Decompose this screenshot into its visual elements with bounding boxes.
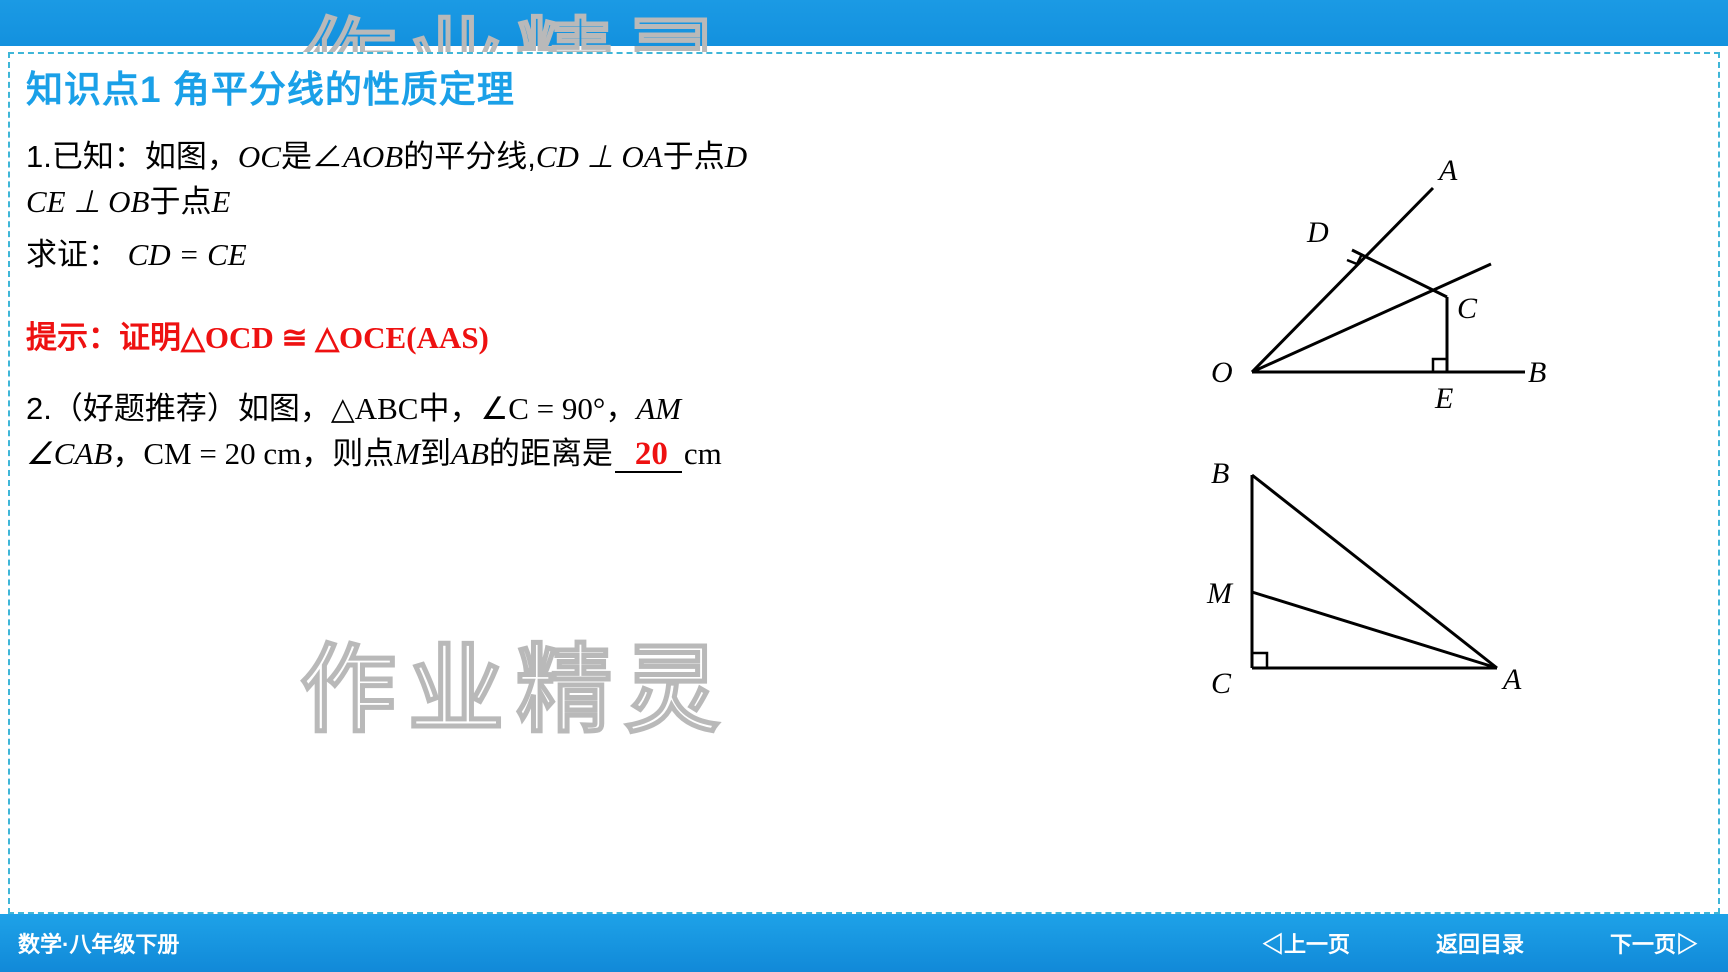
footer-navigation: ◁上一页 返回目录 下一页▷	[1262, 927, 1698, 959]
question-text-column: 知识点1 角平分线的性质定理 1.已知：如图，OC是∠AOB的平分线,CD ⊥ …	[26, 70, 1176, 473]
figure1-svg: A D C O E B	[1195, 150, 1555, 420]
fig1-label-B: B	[1528, 356, 1546, 389]
q1-line1-d: 于点	[663, 139, 725, 174]
q2-angle-cab: ∠CAB	[26, 436, 112, 471]
fig1-label-D: D	[1306, 216, 1329, 249]
question1-prove-line: 求证： CD = CE	[26, 239, 1176, 270]
q1-prove-expr: CD = CE	[128, 237, 247, 272]
fig1-label-O: O	[1211, 356, 1233, 389]
q1-line1-a: 如图，	[145, 139, 238, 174]
fig1-label-C: C	[1457, 292, 1478, 325]
q1-point-d: D	[725, 139, 747, 174]
fig2-label-C: C	[1211, 667, 1232, 700]
q1-line2-a: 于点	[149, 184, 211, 219]
q2-unit: cm	[684, 436, 722, 471]
question2-line1: 2.（好题推荐）如图，△ABC中，∠C = 90°，AM	[26, 393, 1176, 424]
q2-comma3: ，	[301, 436, 332, 471]
fig2-right-angle-c	[1252, 653, 1267, 668]
hint-line: 提示：证明△OCD ≅ △OCE(AAS)	[26, 312, 1176, 357]
fig1-ray-oa	[1252, 188, 1433, 372]
q1-cd-perp-oa: CD ⊥ OA	[536, 139, 663, 174]
q2-number: 2.	[26, 391, 52, 426]
q2-text-c: 则点	[332, 436, 394, 471]
q2-text-e: 的距离是	[489, 436, 613, 471]
prev-page-button[interactable]: ◁上一页	[1262, 927, 1350, 959]
q2-comma2: ，	[112, 436, 143, 471]
q1-oc: OC	[238, 139, 281, 174]
q2-ab: AB	[451, 436, 489, 471]
fig1-label-E: E	[1434, 382, 1453, 415]
fig1-bisector-oc	[1252, 264, 1491, 372]
top-bar	[0, 0, 1728, 46]
fig1-segment-cd	[1352, 250, 1447, 297]
hint-label: 提示：	[26, 320, 119, 355]
q2-text-a: 如图，	[238, 391, 331, 426]
hint-expr: △OCD ≅ △OCE(AAS)	[181, 320, 489, 355]
knowledge-point-title: 知识点1 角平分线的性质定理	[26, 70, 1176, 111]
figure-angle-bisector: A D C O E B	[1195, 150, 1555, 425]
question2-line2: ∠CAB，CM = 20 cm，则点M到AB的距离是20cm	[26, 438, 1176, 473]
q1-line1-c: 的平分线	[403, 139, 527, 174]
fig1-right-angle-e	[1433, 359, 1447, 372]
q2-tag: （好题推荐）	[52, 391, 238, 426]
q1-number: 1.	[26, 139, 52, 174]
q1-point-e: E	[211, 184, 230, 219]
q1-given-label: 已知：	[52, 139, 145, 174]
figure2-svg: B M C A	[1185, 455, 1555, 705]
q2-point-m: M	[394, 436, 420, 471]
fig1-label-A: A	[1437, 154, 1458, 187]
footer-bar: 数学·八年级下册 ◁上一页 返回目录 下一页▷	[0, 914, 1728, 972]
hint-verb: 证明	[119, 320, 181, 355]
fig2-label-B: B	[1211, 457, 1229, 490]
q1-ce-perp-ob: CE ⊥ OB	[26, 184, 149, 219]
q2-cm-value: CM = 20 cm	[143, 436, 301, 471]
q1-aob: AOB	[343, 139, 403, 174]
back-to-contents-button[interactable]: 返回目录	[1436, 927, 1524, 959]
footer-book-title: 数学·八年级下册	[18, 927, 179, 959]
q1-prove-label: 求证：	[26, 237, 119, 272]
fig2-label-M: M	[1206, 577, 1234, 610]
question1-line2: CE ⊥ OB于点E	[26, 186, 1176, 217]
q2-angle-c: ∠C = 90°	[480, 391, 605, 426]
fig2-segment-ma	[1252, 592, 1497, 668]
question1-line1: 1.已知：如图，OC是∠AOB的平分线,CD ⊥ OA于点D	[26, 141, 1176, 172]
q2-text-d: 到	[420, 436, 451, 471]
fig2-label-A: A	[1501, 663, 1522, 696]
q1-line1-b: 是∠	[281, 139, 343, 174]
slide-page: 作业精灵 作业精灵 知识点1 角平分线的性质定理 1.已知：如图，OC是∠AOB…	[0, 0, 1728, 972]
q1-line1-comma: ,	[527, 139, 536, 174]
q2-answer: 20	[615, 438, 682, 473]
q2-am: AM	[636, 391, 681, 426]
next-page-button[interactable]: 下一页▷	[1610, 927, 1698, 959]
q2-comma1: ，	[605, 391, 636, 426]
q2-text-b: 中，	[418, 391, 480, 426]
top-bar-gradient	[0, 0, 1728, 46]
q2-triangle-abc: △ABC	[331, 391, 419, 426]
fig2-segment-ba	[1252, 475, 1497, 668]
figure-right-triangle: B M C A	[1185, 455, 1555, 710]
